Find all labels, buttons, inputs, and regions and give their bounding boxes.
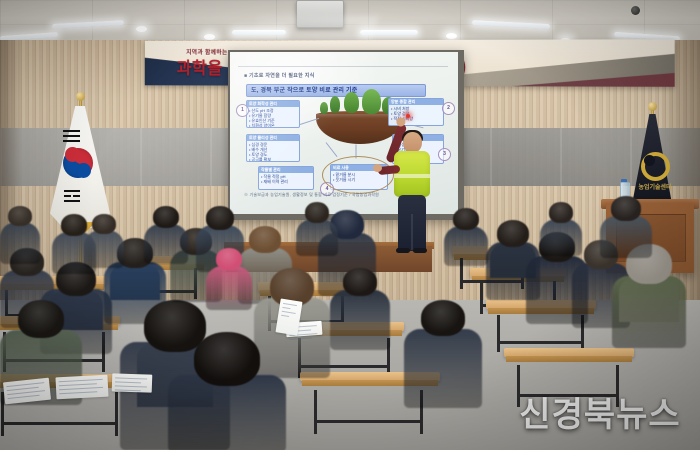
paper-text-line	[59, 387, 103, 390]
paper-text-line	[115, 377, 147, 379]
handout-left-c	[112, 373, 153, 392]
paper-text-line	[115, 381, 141, 383]
paper-text-line	[8, 395, 40, 399]
handout-left-a	[3, 378, 51, 405]
paper-text-line	[281, 315, 289, 317]
handout-left-b	[55, 375, 108, 400]
paper-text-line	[115, 389, 141, 391]
news-watermark: 신경북뉴스	[505, 392, 695, 438]
paper-text-line	[115, 385, 147, 387]
paper-text-line	[283, 303, 297, 306]
paper-text-line	[59, 383, 97, 386]
paper-text-line	[282, 311, 296, 314]
paper-text-line	[59, 379, 103, 382]
paper-text-line	[59, 391, 97, 394]
lecture-hall-photo: 지역과 함께하는 과학을 더 토양) ■ 기초로 자연을 더 필요한 지식 도,…	[0, 0, 700, 450]
handout-layer	[0, 0, 700, 450]
paper-text-line	[282, 307, 290, 309]
paper-text-line	[290, 337, 312, 340]
